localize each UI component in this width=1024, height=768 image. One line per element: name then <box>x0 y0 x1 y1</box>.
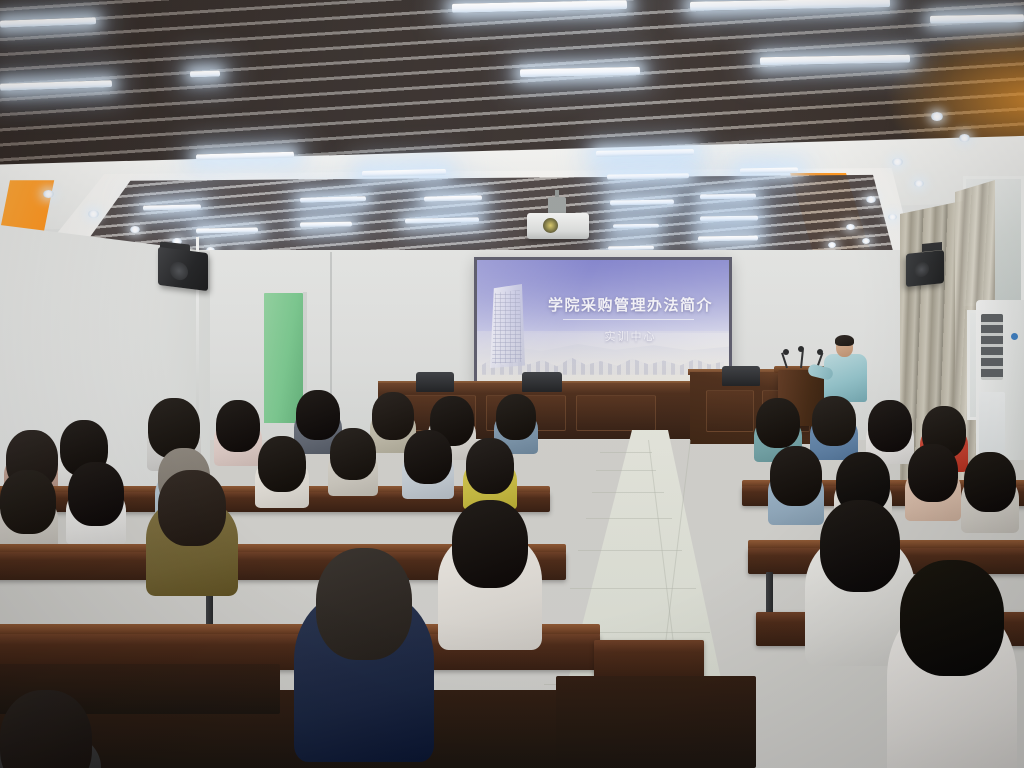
recessed-downlight <box>959 134 970 142</box>
floor-tile-line <box>578 550 682 551</box>
audience-person-head <box>466 438 514 494</box>
audience-person-head <box>496 394 536 440</box>
audience-person-head <box>296 390 340 440</box>
ac-control-panel[interactable] <box>981 314 1003 380</box>
tube-light <box>930 14 1024 23</box>
audience-person-head <box>330 428 376 480</box>
audience-person-head <box>258 436 306 492</box>
screen-glare <box>477 260 729 382</box>
presenter-hair <box>835 335 854 346</box>
audience-person-head <box>812 396 856 446</box>
audience-person-head <box>908 444 958 502</box>
recessed-downlight <box>862 238 870 244</box>
stage-chair[interactable] <box>522 372 562 392</box>
stage-chair[interactable] <box>416 372 454 392</box>
recessed-downlight <box>931 112 943 121</box>
recessed-downlight <box>88 210 99 218</box>
audience-person-head <box>756 398 800 448</box>
projection-screen-frame: 学院采购管理办法简介 实训中心 <box>474 257 732 385</box>
recessed-downlight <box>892 158 903 166</box>
audience-person-head <box>372 392 414 440</box>
microphone-head-icon <box>798 346 804 352</box>
recessed-downlight <box>43 190 54 198</box>
tube-light <box>190 71 220 78</box>
floor-tile-line <box>592 492 664 493</box>
tube-light <box>700 216 758 222</box>
tube-light <box>300 222 352 228</box>
tube-light <box>613 224 659 229</box>
audience-person-head <box>770 446 822 506</box>
ac-indicator-light <box>1011 333 1018 340</box>
stage-chair[interactable] <box>722 366 760 386</box>
recessed-downlight <box>828 242 836 248</box>
projection-screen: 学院采购管理办法简介 实训中心 <box>477 260 729 382</box>
ac-vent <box>979 392 1005 454</box>
floor-tile-line <box>570 588 696 589</box>
audience-person-head <box>158 470 226 546</box>
floor-tile-line <box>596 470 656 471</box>
tube-light <box>740 167 798 173</box>
microphone-head-icon <box>783 349 789 355</box>
floor-tile-line <box>600 452 652 453</box>
bench-row-foreground[interactable] <box>556 676 756 768</box>
audience-person-head <box>868 400 912 452</box>
audience-person-head <box>452 500 528 588</box>
audience-person-head <box>0 690 92 768</box>
ceiling-projector <box>527 213 589 239</box>
tube-light <box>610 199 674 205</box>
conference-hall-photo: 学院采购管理办法简介 实训中心 <box>0 0 1024 768</box>
tube-light <box>700 194 756 200</box>
audience-person-head <box>820 500 900 592</box>
audience-person-head <box>900 560 1004 676</box>
projector-lens-icon <box>543 218 558 233</box>
audience-person-head <box>68 462 124 526</box>
bench-row[interactable] <box>594 640 704 680</box>
audience-person-head <box>964 452 1016 512</box>
desk-panel <box>576 395 656 431</box>
audience-person-head <box>0 470 56 534</box>
audience-person-head <box>404 430 452 484</box>
audience-person-head <box>316 548 412 660</box>
desk-panel <box>706 390 754 432</box>
microphone-head-icon <box>817 349 823 355</box>
audience-person-head <box>216 400 260 452</box>
tube-light <box>698 236 758 242</box>
floor-tile-line <box>586 518 672 519</box>
